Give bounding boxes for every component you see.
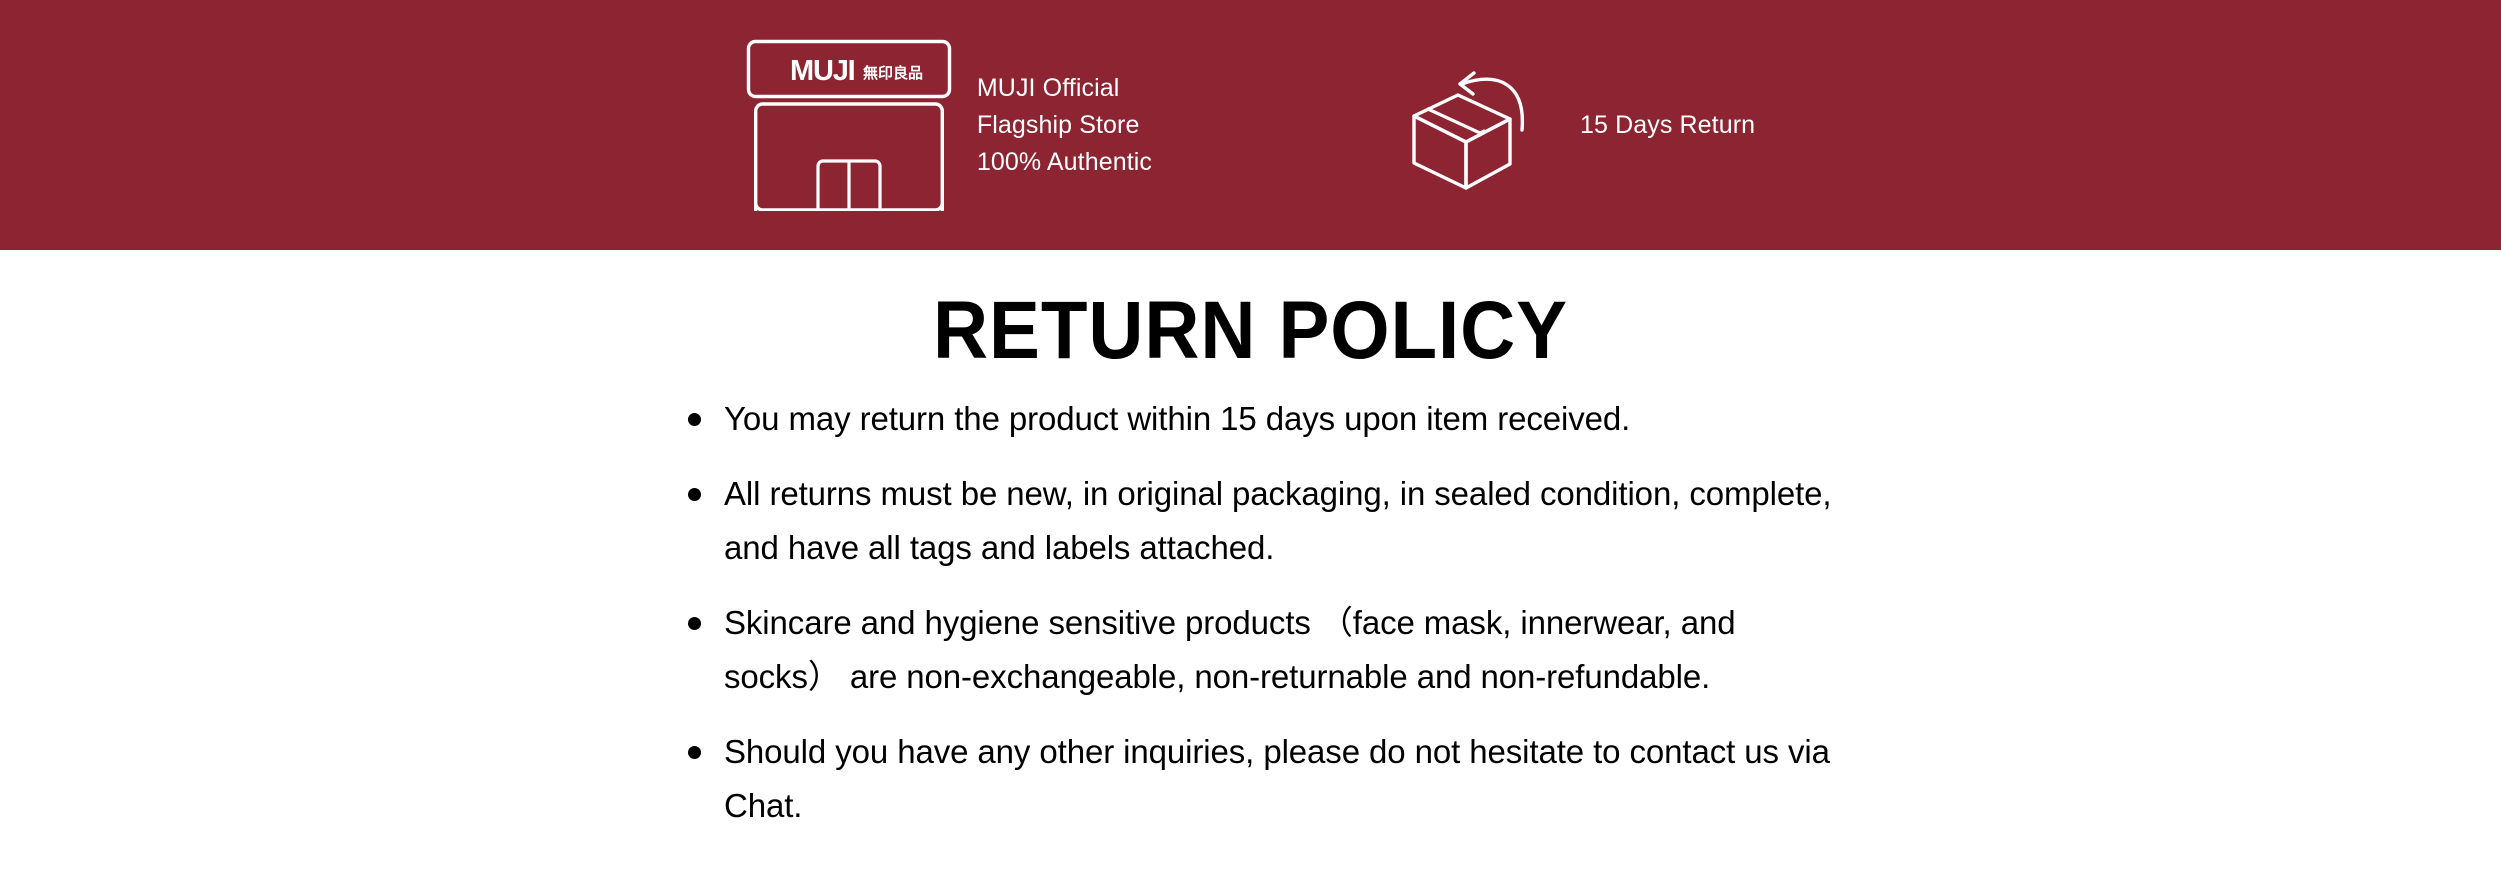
bullet-icon [688,488,701,501]
bullet-icon [688,746,701,759]
list-item-text: All returns must be new, in original pac… [724,475,1832,566]
list-item: You may return the product within 15 day… [686,392,1846,446]
banner-feature-row: MUJI 無印良品 MUJI Official Flagship Store 1… [0,0,2501,250]
list-item-text: Skincare and hygiene sensitive products … [724,604,1735,695]
list-item: All returns must be new, in original pac… [686,467,1846,575]
return-policy-banner-page: MUJI 無印良品 MUJI Official Flagship Store 1… [0,0,2501,876]
days-return-label: 15 Days Return [1580,110,1755,140]
header-banner: MUJI 無印良品 MUJI Official Flagship Store 1… [0,0,2501,250]
list-item: Should you have any other inquiries, ple… [686,725,1846,833]
list-item: Skincare and hygiene sensitive products … [686,596,1846,704]
list-item-text: You may return the product within 15 day… [724,400,1630,437]
policy-bullet-list: You may return the product within 15 day… [686,392,1846,833]
list-item-text: Should you have any other inquiries, ple… [724,733,1830,824]
bullet-icon [688,413,701,426]
bullet-icon [688,617,701,630]
return-box-icon [1410,60,1550,190]
feature-official-store: MUJI 無印良品 MUJI Official Flagship Store 1… [746,39,1152,211]
policy-content: RETURN POLICY You may return the product… [0,250,2501,876]
svg-text:MUJI: MUJI [790,55,855,87]
svg-text:無印良品: 無印良品 [863,64,923,82]
official-store-caption: MUJI Official Flagship Store 100% Authen… [977,70,1152,181]
page-title: RETURN POLICY [88,250,2414,376]
feature-days-return: 15 Days Return [1410,60,1755,190]
muji-storefront-icon: MUJI 無印良品 [746,39,952,211]
